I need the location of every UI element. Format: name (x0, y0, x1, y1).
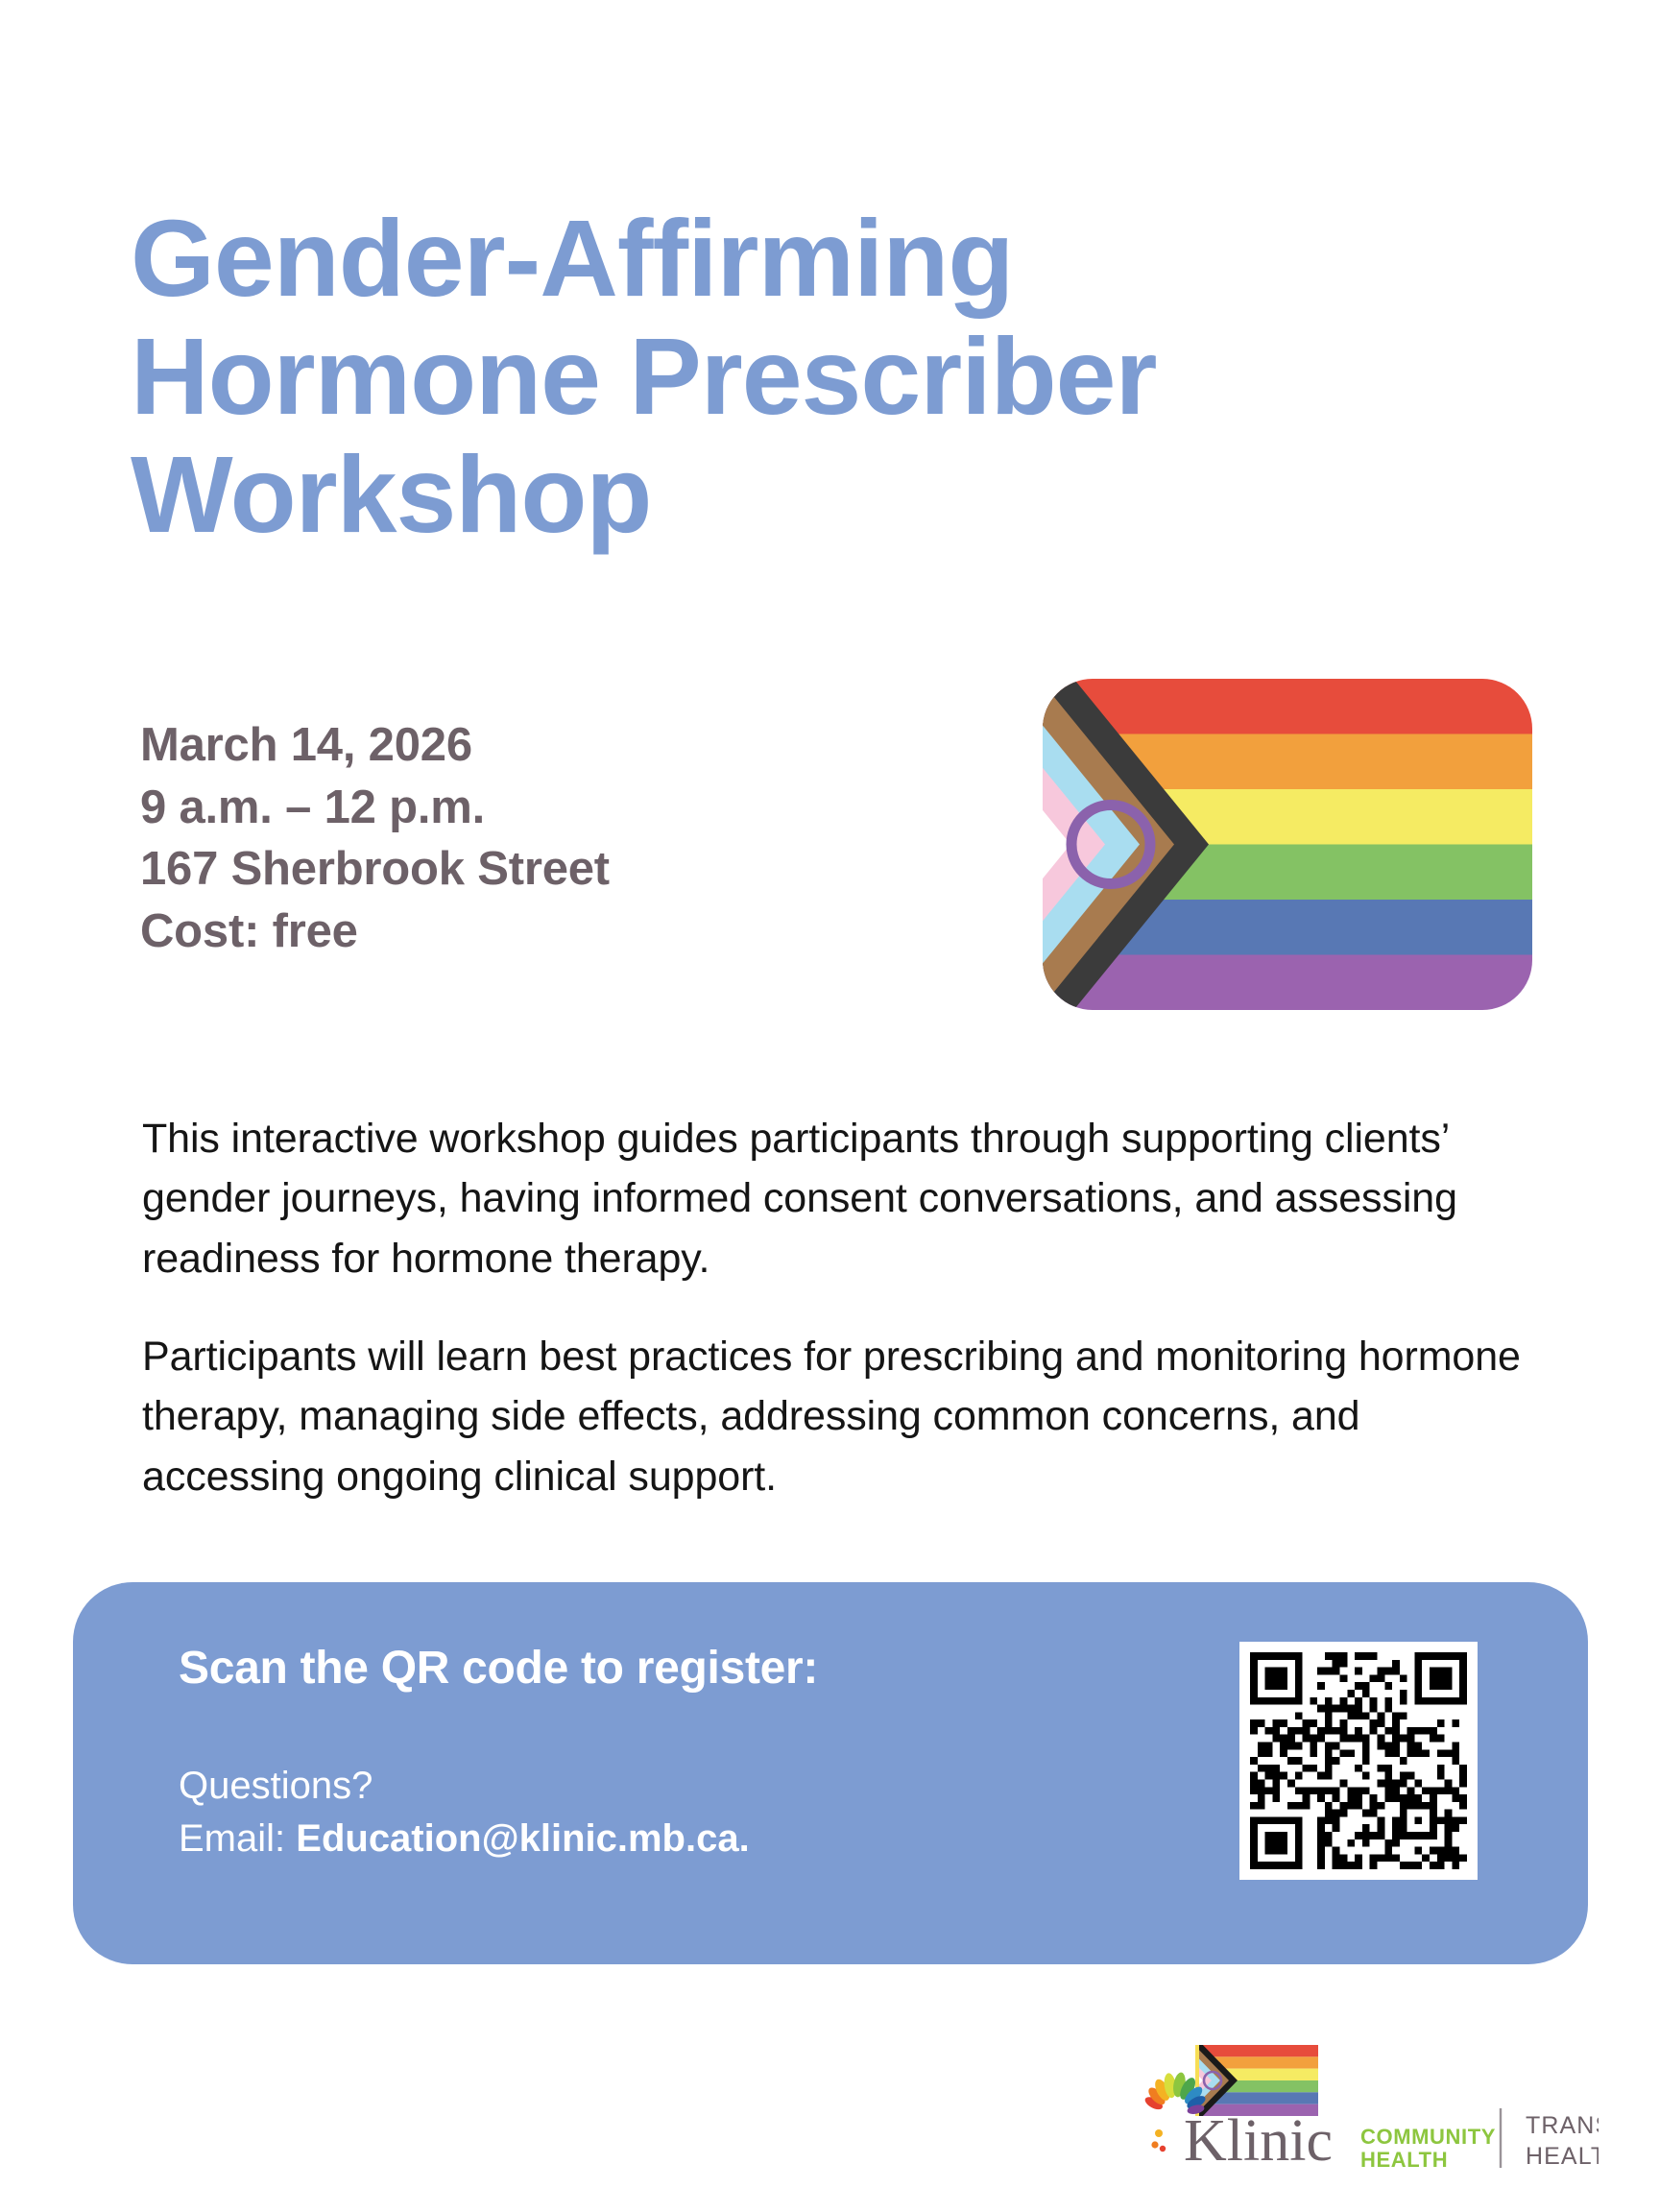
poster-canvas: Gender-Affirming Hormone Prescriber Work… (0, 0, 1659, 2212)
description-paragraph-2: Participants will learn best practices f… (142, 1327, 1544, 1506)
email-label: Email: (179, 1817, 285, 1860)
event-cost: Cost: free (140, 901, 610, 963)
title-line-1: Gender-Affirming (131, 198, 1013, 319)
questions-label: Questions? (179, 1760, 1158, 1813)
registration-text-block: Scan the QR code to register: Questions?… (179, 1642, 1158, 1865)
event-time: 9 a.m. – 12 p.m. (140, 777, 610, 839)
email-line: Email: Education@klinic.mb.ca. (179, 1813, 1158, 1865)
footer-program-line2: HEALTH (1526, 2143, 1599, 2170)
email-address[interactable]: Education@klinic.mb.ca. (296, 1817, 749, 1860)
event-address: 167 Sherbrook Street (140, 838, 610, 901)
footer-logo-lockup: Klinic COMMUNITY HEALTH TRANS HEALTH (1138, 2045, 1599, 2189)
title-line-3: Workshop (131, 434, 651, 555)
footer-program-line1: TRANS (1526, 2112, 1599, 2139)
footer-org-tagline-line1: COMMUNITY (1360, 2125, 1496, 2149)
footer-org-name: Klinic (1184, 2108, 1333, 2174)
registration-panel: Scan the QR code to register: Questions?… (73, 1582, 1588, 1964)
page-title: Gender-Affirming Hormone Prescriber Work… (131, 200, 1455, 554)
qr-code-icon[interactable] (1239, 1642, 1478, 1880)
title-line-2: Hormone Prescriber (131, 316, 1156, 437)
footer-org-tagline-line2: HEALTH (1360, 2148, 1448, 2172)
event-details: March 14, 2026 9 a.m. – 12 p.m. 167 Sher… (140, 714, 610, 963)
event-date: March 14, 2026 (140, 714, 610, 777)
description-block: This interactive workshop guides partici… (142, 1109, 1544, 1506)
pride-flag-icon (1043, 679, 1532, 1010)
registration-heading: Scan the QR code to register: (179, 1642, 1158, 1695)
description-paragraph-1: This interactive workshop guides partici… (142, 1109, 1544, 1288)
